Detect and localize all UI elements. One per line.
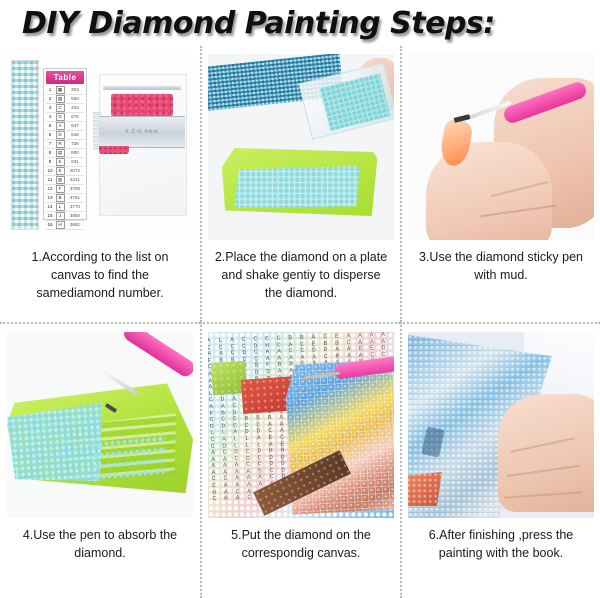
color-code-table: Table 1▦304 2▧550 3C433 4G676 5A647 6D64…	[43, 68, 87, 220]
row-code: 3750	[66, 185, 84, 193]
title-bar: DIY Diamond Painting Steps:	[0, 0, 600, 46]
page-title: DIY Diamond Painting Steps:	[22, 6, 495, 41]
step-cell-1: Table 1▦304 2▧550 3C433 4G676 5A647 6D64…	[0, 46, 200, 322]
steps-grid: Table 1▦304 2▧550 3C433 4G676 5A647 6D64…	[0, 46, 600, 598]
step-caption-6: 6.After finishing ,press the painting wi…	[412, 526, 590, 562]
spilled-diamonds	[99, 146, 129, 154]
row-symbol: J	[54, 212, 66, 220]
pink-diamond-pen	[121, 332, 193, 379]
table-row: 10E2072	[46, 167, 84, 176]
table-row: 5A647	[46, 122, 84, 131]
step-cell-2: 2.Place the diamond on a plate and shake…	[200, 46, 400, 322]
row-symbol: L	[54, 203, 66, 211]
row-code: 645	[66, 131, 84, 139]
step-caption-3: 3.Use the diamond sticky pen with mud.	[412, 248, 590, 284]
row-symbol: H	[54, 221, 66, 229]
row-symbol: D	[54, 131, 66, 139]
bag-label: 0.2-0.4mm	[99, 116, 185, 148]
row-code: 3860	[66, 212, 84, 220]
row-code: 2072	[66, 167, 84, 175]
row-symbol: ▥	[54, 176, 66, 184]
step4-pick-up-diamond-with-pen-photo	[7, 332, 193, 518]
table-row: 13B4761	[46, 194, 84, 203]
row-no: 5	[46, 122, 54, 130]
bag-zipper	[103, 86, 181, 90]
row-code: 433	[66, 104, 84, 112]
row-symbol: A	[54, 122, 66, 130]
row-no: 1	[46, 86, 54, 94]
table-row: 16H3881	[46, 221, 84, 230]
table-row: 15J3860	[46, 212, 84, 221]
step-cell-3: 3.Use the diamond sticky pen with mud.	[400, 46, 600, 322]
row-symbol: G	[54, 113, 66, 121]
row-no: 3	[46, 104, 54, 112]
color-table-rows: 1▦304 2▧550 3C433 4G676 5A647 6D645 7R72…	[46, 86, 84, 230]
table-row: 4G676	[46, 113, 84, 122]
row-no: 8	[46, 149, 54, 157]
row-code: 550	[66, 95, 84, 103]
row-no: 11	[46, 176, 54, 184]
row-no: 7	[46, 140, 54, 148]
row-symbol: E	[54, 167, 66, 175]
step-caption-5: 5.Put the diamond on the correspondig ca…	[212, 526, 390, 562]
step6-press-finished-painting-photo	[408, 332, 594, 518]
step3-pen-with-glue-mud-photo	[408, 54, 594, 240]
row-code: 647	[66, 122, 84, 130]
color-table-header: Table	[46, 71, 84, 84]
row-symbol: C	[54, 104, 66, 112]
table-row: 8▤800	[46, 149, 84, 158]
diamonds-in-tray	[234, 166, 360, 208]
row-no: 13	[46, 194, 54, 202]
row-symbol: F	[54, 185, 66, 193]
row-no: 12	[46, 185, 54, 193]
diy-diamond-painting-steps-infographic: DIY Diamond Painting Steps: Table 1▦304 …	[0, 0, 600, 598]
row-code: 3770	[66, 203, 84, 211]
step-caption-4: 4.Use the pen to absorb the diamond.	[11, 526, 189, 562]
row-symbol: R	[54, 140, 66, 148]
row-no: 2	[46, 95, 54, 103]
step-caption-1: 1.According to the list on canvas to fin…	[11, 248, 189, 302]
canvas-edge-strip	[11, 60, 39, 230]
row-no: 9	[46, 158, 54, 166]
row-code: 676	[66, 113, 84, 121]
step-cell-6: 6.After finishing ,press the painting wi…	[400, 322, 600, 598]
row-symbol: B	[54, 194, 66, 202]
row-code: 304	[66, 86, 84, 94]
row-no: 4	[46, 113, 54, 121]
row-symbol: ▦	[54, 86, 66, 94]
row-code: 3421	[66, 176, 84, 184]
table-row: 9K931	[46, 158, 84, 167]
step2-pour-diamonds-into-tray-photo	[208, 54, 394, 240]
pink-diamond-drills	[111, 94, 173, 116]
table-row: 7R726	[46, 140, 84, 149]
row-code: 3881	[66, 221, 84, 229]
row-code: 931	[66, 158, 84, 166]
table-row: 11▥3421	[46, 176, 84, 185]
table-row: 14L3770	[46, 203, 84, 212]
row-code: 726	[66, 140, 84, 148]
row-code: 800	[66, 149, 84, 157]
table-row: 6D645	[46, 131, 84, 140]
row-symbol: ▤	[54, 149, 66, 157]
step-caption-2: 2.Place the diamond on a plate and shake…	[212, 248, 390, 302]
red-diamond-corner	[408, 472, 442, 506]
row-symbol: ▧	[54, 95, 66, 103]
row-no: 14	[46, 203, 54, 211]
step-cell-5: A L A C C C C B B A C E A A A A C C C C …	[200, 322, 400, 598]
step1-color-chart-and-diamond-bag-photo: Table 1▦304 2▧550 3C433 4G676 5A647 6D64…	[7, 54, 193, 240]
row-symbol: K	[54, 158, 66, 166]
row-no: 15	[46, 212, 54, 220]
aligned-diamond-rows	[91, 433, 169, 485]
row-no: 6	[46, 131, 54, 139]
row-no: 10	[46, 167, 54, 175]
table-row: 1▦304	[46, 86, 84, 95]
row-code: 4761	[66, 194, 84, 202]
table-row: 3C433	[46, 104, 84, 113]
row-no: 16	[46, 221, 54, 229]
step5-place-diamond-on-canvas-photo: A L A C C C C B B A C E A A A A C C C C …	[208, 332, 394, 518]
table-row: 12F3750	[46, 185, 84, 194]
table-row: 2▧550	[46, 95, 84, 104]
step-cell-4: 4.Use the pen to absorb the diamond.	[0, 322, 200, 598]
